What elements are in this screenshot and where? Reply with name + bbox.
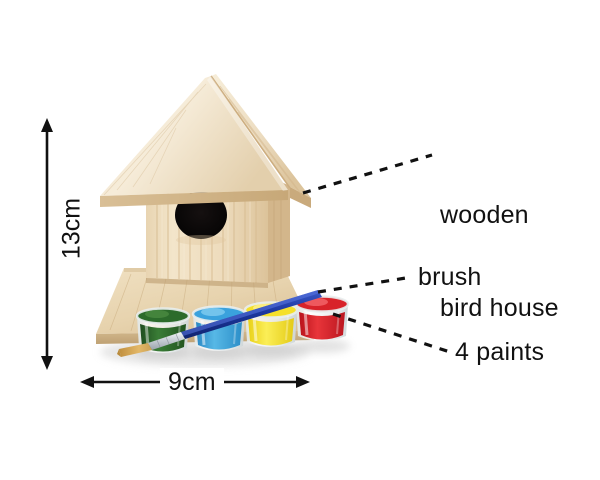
height-dimension-line [41, 118, 53, 370]
callout-label-4-paints: 4 paints [455, 337, 544, 368]
callout-label-line-2: bird house [440, 293, 559, 324]
product-dimension-diagram: wooden bird house brush 4 paints 13cm 9c… [0, 0, 600, 480]
leader-line-4-paints [333, 314, 450, 352]
width-dimension-label: 9cm [160, 368, 224, 397]
height-dimension-label: 13cm [56, 184, 89, 274]
leader-line-wooden-bird-house [303, 155, 432, 193]
callout-label-brush: brush [418, 262, 482, 293]
leader-line-brush [318, 277, 412, 292]
callout-label-line-1: wooden [440, 200, 559, 231]
